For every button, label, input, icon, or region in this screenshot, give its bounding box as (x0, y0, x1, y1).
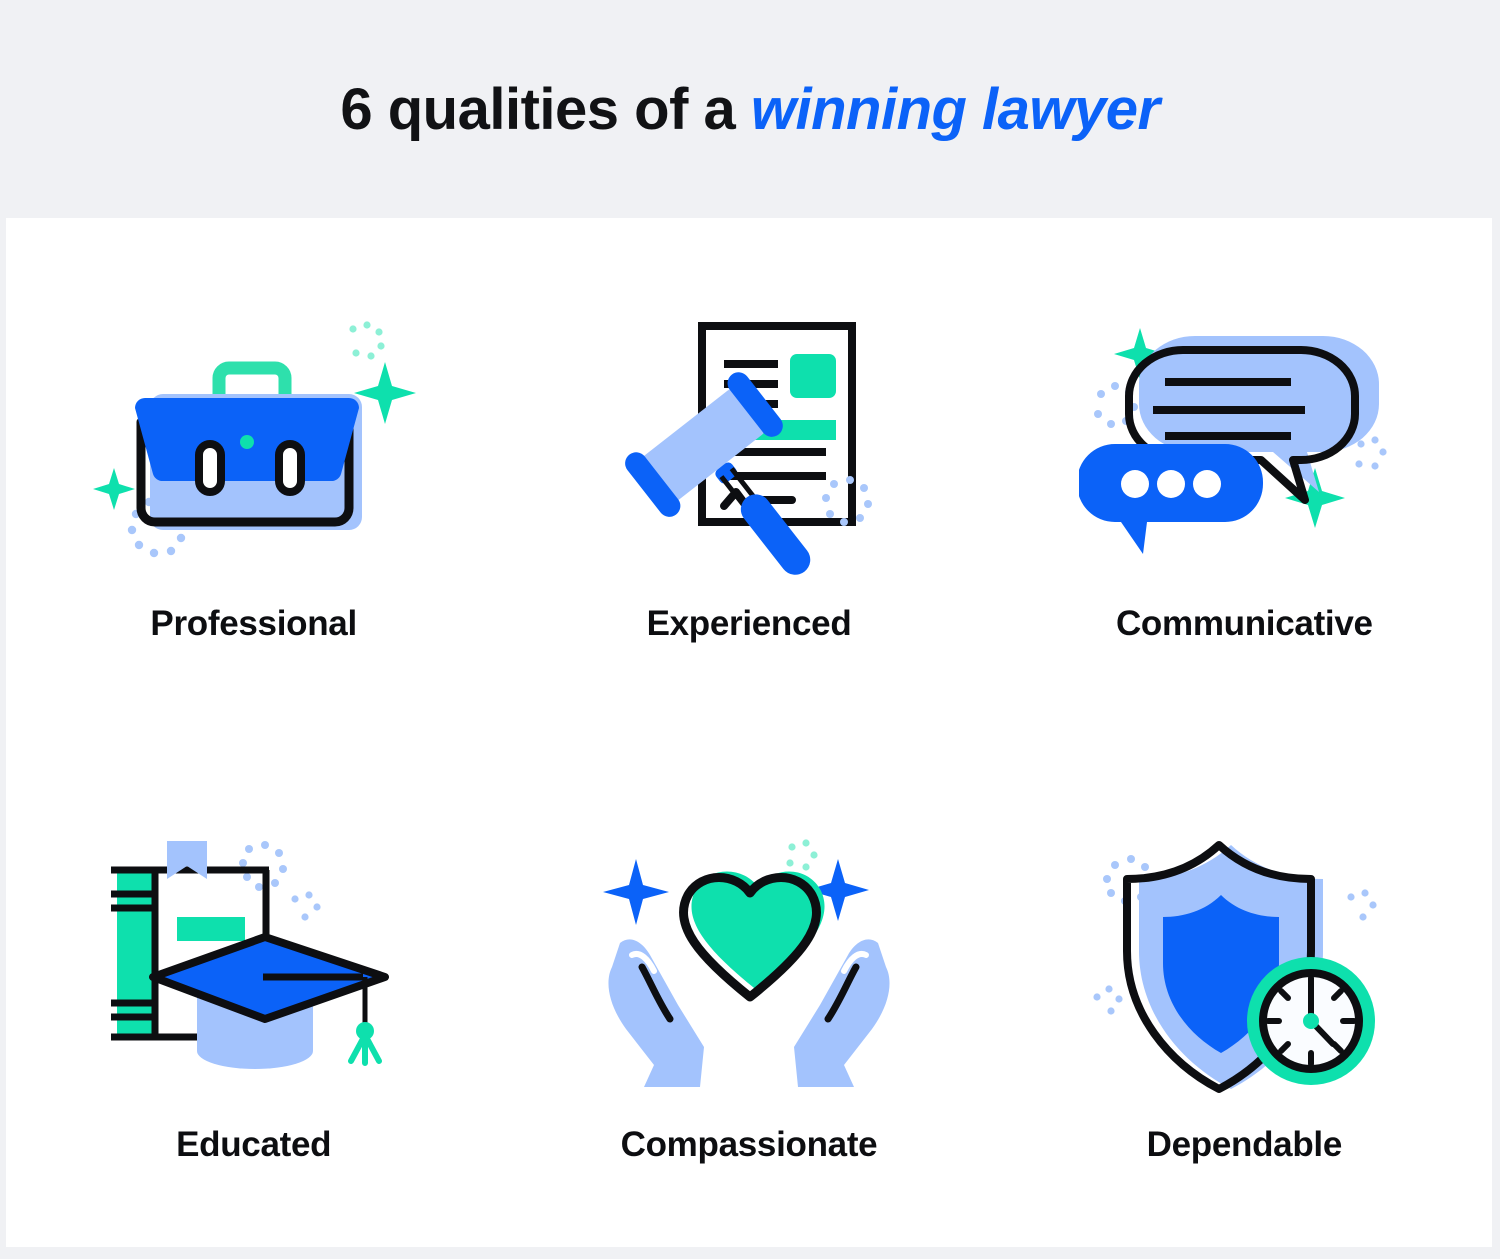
briefcase-icon (89, 316, 419, 586)
header-banner: 6 qualities of a winning lawyer (0, 0, 1500, 218)
dotted-arc-decoration (786, 839, 817, 870)
right-hand (794, 939, 890, 1087)
page-title: 6 qualities of a winning lawyer (340, 76, 1159, 143)
graduation-book-icon (89, 837, 419, 1107)
sparkle-icon (93, 468, 135, 510)
speech-bubbles-icon (1079, 316, 1409, 586)
book-green-label (177, 917, 245, 941)
quality-label: Dependable (1147, 1125, 1342, 1165)
quality-label: Professional (150, 604, 356, 644)
quality-label: Compassionate (621, 1125, 878, 1165)
dotted-arc-decoration (1356, 437, 1387, 470)
document-green-block (790, 354, 836, 398)
quality-card-communicative: Communicative (997, 218, 1492, 733)
quality-label: Communicative (1116, 604, 1373, 644)
shield-clock-icon (1079, 837, 1409, 1107)
hands-heart-icon (584, 837, 914, 1107)
dotted-arc-decoration (349, 322, 384, 360)
accent-dot (240, 435, 254, 449)
sparkle-icon (354, 362, 416, 424)
quality-label: Experienced (647, 604, 852, 644)
quality-label: Educated (176, 1125, 331, 1165)
clock-center (1303, 1013, 1319, 1029)
title-plain-text: 6 qualities of a (340, 77, 751, 142)
typing-dots (1121, 470, 1221, 498)
left-hand (608, 939, 704, 1087)
tassel-icon (351, 1022, 379, 1063)
infographic-canvas: 6 qualities of a winning lawyer (0, 0, 1500, 1259)
content-panel: Professional (6, 218, 1492, 1247)
qualities-grid: Professional (6, 218, 1492, 1247)
gavel-document-icon (584, 316, 914, 586)
quality-card-compassionate: Compassionate (501, 733, 996, 1248)
dotted-arc-decoration (291, 891, 320, 920)
quality-card-experienced: Experienced (501, 218, 996, 733)
sparkle-icon (603, 859, 669, 925)
dotted-arc-decoration-2 (1094, 985, 1123, 1014)
title-accent-text: winning lawyer (751, 77, 1160, 142)
dotted-arc-decoration (1348, 889, 1377, 920)
quality-card-professional: Professional (6, 218, 501, 733)
quality-card-educated: Educated (6, 733, 501, 1248)
quality-card-dependable: Dependable (997, 733, 1492, 1248)
